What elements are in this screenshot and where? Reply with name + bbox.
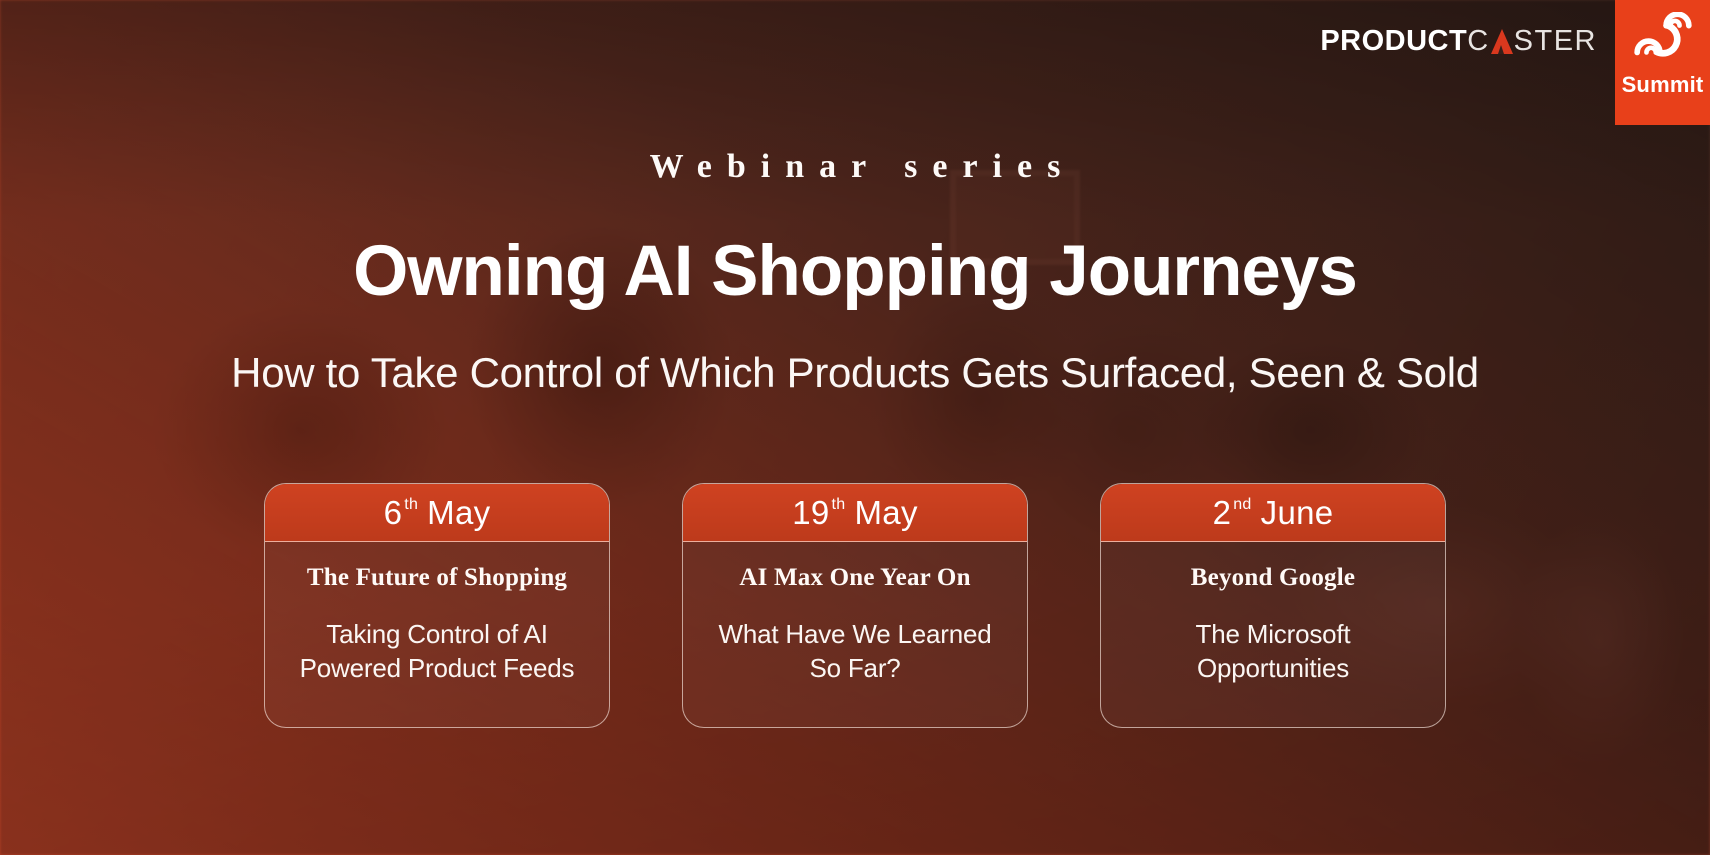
session-title: The Future of Shopping <box>283 564 591 593</box>
summit-badge[interactable]: Summit <box>1615 0 1710 125</box>
session-day-ordinal: th <box>832 497 846 513</box>
session-body: AI Max One Year On What Have We Learned … <box>683 542 1027 727</box>
session-day: 6 <box>384 496 403 529</box>
session-day-ordinal: th <box>404 497 418 513</box>
session-body: The Future of Shopping Taking Control of… <box>265 542 609 727</box>
session-day: 2 <box>1213 496 1232 529</box>
session-subtitle: Taking Control of AI Powered Product Fee… <box>283 617 591 686</box>
session-day-ordinal: nd <box>1233 497 1251 513</box>
page-title: Owning AI Shopping Journeys <box>0 235 1710 310</box>
session-date-header: 6thMay <box>265 484 609 542</box>
session-day: 19 <box>792 496 829 529</box>
brand-logo-lockup[interactable]: PRODUCTCSTER Summit <box>1320 0 1710 125</box>
session-subtitle: The Microsoft Opportunities <box>1119 617 1427 686</box>
webinar-promo-banner: PRODUCTCSTER Summit Webinar series Ownin… <box>0 0 1710 855</box>
session-subtitle: What Have We Learned So Far? <box>701 617 1009 686</box>
wordmark-product: PRODUCT <box>1320 25 1467 58</box>
session-month: June <box>1261 496 1334 529</box>
session-date: 6thMay <box>384 496 491 529</box>
session-month: May <box>855 496 918 529</box>
session-title: AI Max One Year On <box>701 564 1009 593</box>
summit-wave-icon <box>1632 12 1694 64</box>
session-card[interactable]: 2ndJune Beyond Google The Microsoft Oppo… <box>1100 483 1446 728</box>
eyebrow-label: Webinar series <box>0 148 1710 186</box>
page-subtitle: How to Take Control of Which Products Ge… <box>0 350 1710 396</box>
session-date: 19thMay <box>792 496 918 529</box>
wordmark-a-triangle-icon <box>1491 29 1513 54</box>
banner-content: Webinar series Owning AI Shopping Journe… <box>0 0 1710 855</box>
session-card[interactable]: 6thMay The Future of Shopping Taking Con… <box>264 483 610 728</box>
session-month: May <box>427 496 490 529</box>
wordmark-c: C <box>1467 25 1489 58</box>
summit-label: Summit <box>1622 72 1704 98</box>
session-card[interactable]: 19thMay AI Max One Year On What Have We … <box>682 483 1028 728</box>
session-date-header: 2ndJune <box>1101 484 1445 542</box>
productcaster-wordmark: PRODUCTCSTER <box>1320 0 1615 58</box>
session-date-header: 19thMay <box>683 484 1027 542</box>
session-title: Beyond Google <box>1119 564 1427 593</box>
session-card-list: 6thMay The Future of Shopping Taking Con… <box>0 483 1710 728</box>
session-body: Beyond Google The Microsoft Opportunitie… <box>1101 542 1445 727</box>
wordmark-ster: STER <box>1514 25 1597 58</box>
session-date: 2ndJune <box>1213 496 1334 529</box>
